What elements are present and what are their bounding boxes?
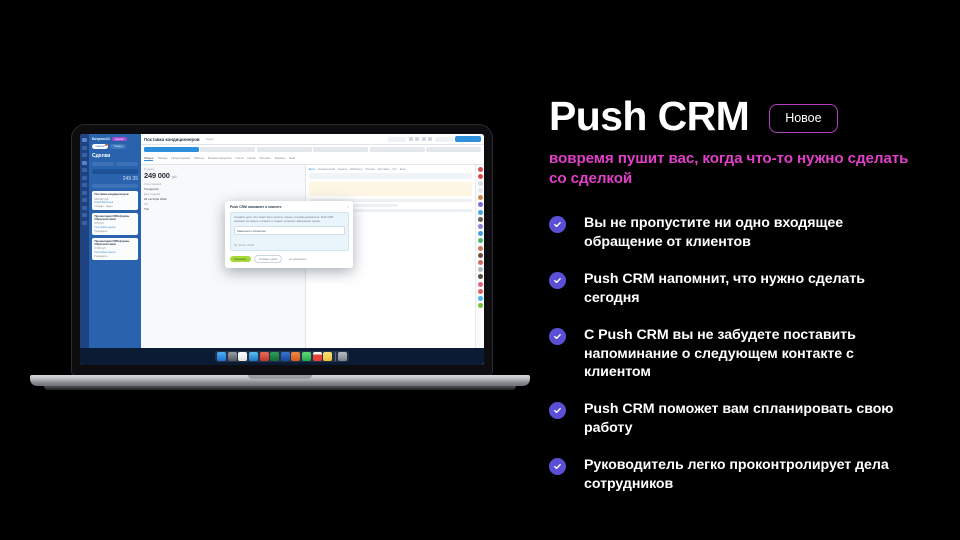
dock-icon-group: [215, 351, 349, 363]
crm-detail-tabs: Общее Товары Предложения Работы Бизнес-п…: [141, 154, 484, 165]
crm-tab-works[interactable]: Работы: [194, 156, 204, 162]
contact-avatar[interactable]: [478, 224, 483, 229]
contact-avatar[interactable]: [478, 202, 483, 207]
crm-brand-pill: Сделки: [112, 137, 127, 141]
rail-icon-apps[interactable]: [82, 213, 87, 217]
list-item: Push CRM напомнит, что нужно сделать сег…: [549, 270, 949, 308]
crm-pipeline-stages[interactable]: [141, 145, 484, 154]
crm-sidebar-tab-deals-label: Сделки: [96, 145, 105, 148]
rail-icon-tasks[interactable]: [82, 161, 87, 165]
contact-avatar[interactable]: [478, 238, 483, 243]
crm-field-label: Дата создания: [144, 193, 302, 196]
push-crm-modal-input[interactable]: Связаться с клиентом: [234, 226, 345, 235]
crm-tab-invoices[interactable]: Счета: [235, 156, 243, 162]
contact-avatar[interactable]: [478, 253, 483, 258]
crm-deal-amount-currency: руб.: [172, 175, 178, 179]
hero-title-row: Push CRM Новое: [549, 96, 949, 137]
push-crm-modal-actions: Сохранить Отложить дело не предлагать: [230, 255, 349, 263]
crm-tab-processes[interactable]: Бизнес-процессы: [208, 156, 231, 162]
filter-chip-1[interactable]: [92, 162, 114, 167]
search-rail-icon[interactable]: [478, 188, 483, 193]
laptop-lid: Битрикс24 Сделки Сделки Товары: [72, 125, 492, 375]
deal-card-meta: Подождите: [95, 255, 136, 258]
contact-avatar[interactable]: [478, 246, 483, 251]
push-crm-modal-save-button[interactable]: Сохранить: [230, 256, 251, 262]
activity-tab-deal[interactable]: Дело: [309, 168, 315, 171]
rail-icon-sites[interactable]: [82, 198, 87, 202]
laptop-mockup: Битрикс24 Сделки Сделки Товары: [30, 125, 530, 410]
feature-list: Вы не пропустите ни одно входящее обраще…: [549, 214, 949, 494]
deal-card-amount: 0 000 руб.: [95, 247, 136, 250]
check-circle-icon: [549, 272, 566, 289]
crm-field-value[interactable]: Городской: [144, 187, 302, 191]
rail-icon-more[interactable]: [82, 221, 87, 225]
push-crm-modal-date[interactable]: Пн, 26 окт, 14:00: [234, 244, 345, 247]
pipeline-stage-1[interactable]: [144, 147, 199, 152]
contact-avatar[interactable]: [478, 217, 483, 222]
list-item: С Push CRM вы не забудете поставить напо…: [549, 326, 949, 383]
slide-root: Битрикс24 Сделки Сделки Товары: [0, 0, 960, 540]
check-circle-icon: [549, 402, 566, 419]
crm-topbar: Поставка кондиционеров · · Подро: [141, 134, 484, 145]
contact-avatar[interactable]: [478, 167, 483, 172]
finder-icon[interactable]: [217, 352, 226, 361]
activity-tab-whatsapp[interactable]: WhatsApp: [350, 168, 362, 171]
push-crm-modal-title: Push CRM напомнит о клиенте: [230, 205, 282, 209]
status-badge: Новое: [769, 104, 837, 133]
crm-deal-amount-value: 249 000: [144, 171, 170, 180]
hero-panel: Push CRM Новое вовремя пушит вас, когда …: [549, 96, 949, 512]
crm-sidebar-tab-goods-label: Товары: [114, 145, 123, 148]
deal-card-meta: Подождите: [95, 230, 136, 233]
crm-amount-label: О сделке: [144, 168, 302, 171]
activity-tab-chat[interactable]: Чат: [392, 168, 396, 171]
deal-card[interactable]: Поставка кондиционеров 249 000 руб. Юрий…: [92, 191, 138, 210]
trash-icon[interactable]: [338, 352, 347, 361]
crm-activity-input[interactable]: [309, 173, 472, 179]
crm-application: Битрикс24 Сделки Сделки Товары: [80, 134, 484, 365]
gear-icon[interactable]: [428, 137, 432, 141]
safari-icon[interactable]: [249, 352, 258, 361]
deal-card-meta: сегодня · задач: [95, 205, 136, 208]
crm-tab-history[interactable]: История: [260, 156, 271, 162]
crm-tab-links[interactable]: Связи: [247, 156, 255, 162]
macos-dock: [80, 348, 484, 365]
pipeline-stage-5[interactable]: [370, 147, 425, 152]
hero-subtitle: вовремя пушит вас, когда что-то нужно сд…: [549, 149, 909, 189]
contact-avatar[interactable]: [478, 274, 483, 279]
laptop-foot: [44, 386, 516, 390]
pipeline-stage-2[interactable]: [200, 147, 255, 152]
check-circle-icon: [549, 216, 566, 233]
pipeline-stage-3[interactable]: [257, 147, 312, 152]
deal-card-person: Настройка сделки: [95, 251, 136, 254]
crm-tab-general[interactable]: Общее: [144, 156, 153, 162]
push-crm-modal: Push CRM напомнит о клиенте × Создайте д…: [225, 201, 353, 268]
deal-card-amount: 249 000 руб.: [95, 198, 136, 201]
activity-tab-email[interactable]: Письмо: [365, 168, 375, 171]
crm-primary-button[interactable]: [455, 136, 481, 142]
search-icon[interactable]: [422, 137, 426, 141]
crm-field-row: Дата создания 26 октября 2022: [144, 193, 302, 201]
check-circle-icon: [549, 328, 566, 345]
activity-tab-more[interactable]: Ещё: [400, 168, 406, 171]
crm-field-label: Ответственный: [144, 183, 302, 186]
teams-icon[interactable]: [291, 352, 300, 361]
crm-sidebar-title: Сделки: [92, 153, 138, 159]
contact-avatar[interactable]: [478, 260, 483, 265]
check-circle-icon: [549, 458, 566, 475]
contact-avatar[interactable]: [478, 282, 483, 287]
crm-sidebar-tab-deals[interactable]: Сделки: [92, 144, 108, 149]
list-item-label: С Push CRM вы не забудете поставить напо…: [584, 326, 902, 383]
contact-avatar[interactable]: [478, 174, 483, 179]
contact-avatar[interactable]: [478, 296, 483, 301]
rail-icon-calendar[interactable]: [82, 168, 87, 172]
contact-avatar[interactable]: [478, 303, 483, 308]
pipeline-stage-6[interactable]: [426, 147, 481, 152]
filter-chip-2[interactable]: [116, 162, 138, 167]
contact-avatar[interactable]: [478, 267, 483, 272]
list-item-label: Вы не пропустите ни одно входящее обраще…: [584, 214, 902, 252]
contact-avatar[interactable]: [478, 231, 483, 236]
rail-icon-market[interactable]: [82, 206, 87, 210]
crm-brand[interactable]: Битрикс24 Сделки: [92, 137, 138, 141]
page-title: Push CRM: [549, 96, 749, 137]
calendar-icon[interactable]: [313, 352, 322, 361]
dock-divider: [335, 352, 336, 361]
crm-brand-label: Битрикс24: [92, 137, 110, 141]
list-item: Push CRM поможет вам спланировать свою р…: [549, 400, 949, 438]
stickies-icon[interactable]: [323, 352, 332, 361]
deal-card-title: Презентация CRM-формы Обратной связи: [95, 240, 136, 247]
crm-sidebar-tab-goods[interactable]: Товары: [110, 144, 126, 149]
list-item-label: Push CRM напомнит, что нужно сделать сег…: [584, 270, 902, 308]
crm-topbar-select[interactable]: [435, 137, 453, 142]
crm-sidebar-stage-bar[interactable]: [92, 169, 138, 174]
crm-sidebar-amount: 249 35: [92, 176, 138, 182]
deal-card-amount: 975 руб.: [95, 222, 136, 225]
crm-topbar-chip[interactable]: [388, 137, 406, 142]
print-icon[interactable]: [415, 137, 419, 141]
crm-tab-farmer[interactable]: Фермер: [275, 156, 286, 162]
list-item: Руководитель легко проконтролирует дела …: [549, 456, 949, 494]
crm-sidebar-tabs: Сделки Товары: [92, 144, 138, 149]
crm-field-row: Ответственный Городской: [144, 183, 302, 191]
activity-tab-comment[interactable]: Комментарий: [318, 168, 335, 171]
notification-dot-icon: [105, 144, 107, 146]
rail-icon-drive[interactable]: [82, 176, 87, 180]
rail-icon-menu[interactable]: [82, 138, 87, 142]
crm-contacts-rail: [475, 165, 484, 366]
push-crm-modal-header: Push CRM напомнит о клиенте ×: [230, 205, 349, 209]
rail-icon-live[interactable]: [82, 146, 87, 150]
chrome-icon[interactable]: [260, 352, 269, 361]
list-item-label: Push CRM поможет вам спланировать свою р…: [584, 400, 902, 438]
list-item-label: Руководитель легко проконтролирует дела …: [584, 456, 902, 494]
crm-icon-rail[interactable]: [80, 134, 89, 365]
push-crm-modal-body: Создайте дело. Это может быть встреча, з…: [230, 212, 349, 252]
settings-rail-icon[interactable]: [478, 181, 483, 186]
push-crm-modal-postpone-button[interactable]: Отложить дело: [254, 255, 282, 263]
activity-tab-delivery[interactable]: Доставка: [378, 168, 390, 171]
contact-avatar[interactable]: [478, 210, 483, 215]
activity-tab-task[interactable]: Задача: [338, 168, 347, 171]
crm-page-title: Поставка кондиционеров: [144, 137, 200, 142]
laptop-screen: Битрикс24 Сделки Сделки Товары: [80, 134, 484, 365]
crm-sidebar-action-button[interactable]: [92, 184, 138, 189]
laptop-base: [30, 375, 530, 386]
rail-icon-chat[interactable]: [82, 153, 87, 157]
deal-card-title: Презентация CRM-формы Обратной связи: [95, 215, 136, 222]
word-icon[interactable]: [281, 352, 290, 361]
contact-avatar[interactable]: [478, 195, 483, 200]
rail-icon-company[interactable]: [82, 191, 87, 195]
contact-avatar[interactable]: [478, 289, 483, 294]
crm-tab-more[interactable]: Ещё: [289, 156, 295, 162]
pipeline-stage-4[interactable]: [313, 147, 368, 152]
whatsapp-icon[interactable]: [302, 352, 311, 361]
notes-icon[interactable]: [238, 352, 247, 361]
push-crm-modal-description: Создайте дело. Это может быть встреча, з…: [234, 216, 345, 224]
deal-card-person: Юрий Васильев: [95, 201, 136, 204]
settings-icon[interactable]: [228, 352, 237, 361]
crm-activity-note-card[interactable]: [309, 182, 472, 196]
crm-tab-goods[interactable]: Товары: [157, 156, 167, 162]
crm-breadcrumb: · · Подро: [203, 138, 214, 141]
rail-icon-crm[interactable]: [82, 183, 87, 187]
crm-activity-tabs: Дело Комментарий Задача WhatsApp Письмо …: [309, 168, 472, 171]
crm-deal-amount: 249 000 руб.: [144, 171, 302, 180]
deal-card-title: Поставка кондиционеров: [95, 193, 136, 196]
excel-icon[interactable]: [270, 352, 279, 361]
close-icon[interactable]: ×: [347, 205, 349, 209]
crm-topbar-actions: [388, 136, 481, 142]
crm-sidebar-filters[interactable]: [92, 162, 138, 167]
crm-sidebar: Битрикс24 Сделки Сделки Товары: [89, 134, 141, 365]
deal-card[interactable]: Презентация CRM-формы Обратной связи 0 0…: [92, 238, 138, 260]
crm-tab-offers[interactable]: Предложения: [171, 156, 190, 162]
deal-card-person: Настройка сделки: [95, 226, 136, 229]
phone-icon[interactable]: [409, 137, 413, 141]
push-crm-modal-dismiss-button[interactable]: не предлагать: [285, 256, 310, 262]
list-item: Вы не пропустите ни одно входящее обраще…: [549, 214, 949, 252]
deal-card[interactable]: Презентация CRM-формы Обратной связи 975…: [92, 213, 138, 235]
